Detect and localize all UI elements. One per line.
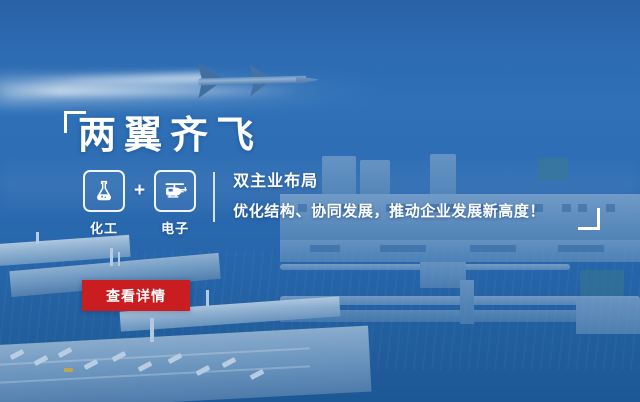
icon-label-chemical: 化工 bbox=[90, 218, 118, 237]
business-segment-chemical[interactable]: 化工 bbox=[82, 170, 126, 237]
flask-icon-box[interactable] bbox=[83, 170, 125, 212]
banner-content: 两翼齐飞 化工 + bbox=[0, 0, 640, 402]
subtitle-block: 双主业布局 优化结构、协同发展，推动企业发展新高度！ bbox=[233, 170, 545, 223]
plus-symbol: + bbox=[134, 170, 145, 212]
subtitle-line-2: 优化结构、协同发展，推动企业发展新高度！ bbox=[233, 201, 545, 223]
vertical-divider bbox=[213, 172, 215, 222]
business-segment-electronics[interactable]: 电子 bbox=[153, 170, 197, 237]
hero-banner: 两翼齐飞 化工 + bbox=[0, 0, 640, 402]
helicopter-icon bbox=[162, 179, 188, 203]
banner-middle-row: 化工 + bbox=[82, 170, 545, 237]
subtitle-line-1: 双主业布局 bbox=[233, 170, 545, 194]
banner-title: 两翼齐飞 bbox=[78, 114, 262, 158]
icon-label-electronics: 电子 bbox=[161, 218, 189, 237]
bracket-bottom-right bbox=[578, 208, 600, 230]
flask-icon bbox=[92, 179, 116, 203]
business-icons-group: 化工 + bbox=[82, 170, 197, 237]
helicopter-icon-box[interactable] bbox=[154, 170, 196, 212]
view-details-button[interactable]: 查看详情 bbox=[82, 280, 190, 311]
